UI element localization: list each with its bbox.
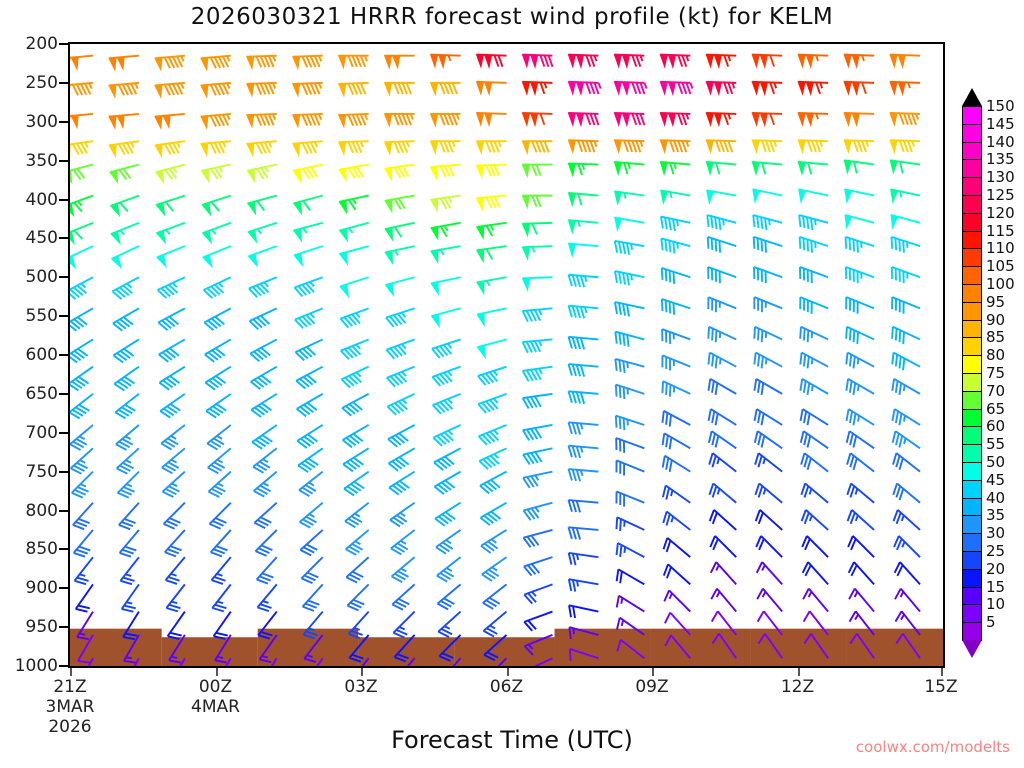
wind-barb: [389, 472, 414, 495]
wind-barb: [664, 564, 690, 584]
y-tick-label: 700: [26, 423, 58, 443]
y-tick-mark: [59, 665, 68, 667]
wind-barb: [755, 483, 782, 502]
y-tick-mark: [59, 237, 68, 239]
wind-barb: [109, 114, 139, 128]
wind-barb: [525, 658, 552, 666]
wind-barb: [294, 196, 323, 214]
wind-barb: [298, 448, 323, 472]
wind-barb: [848, 536, 874, 557]
wind-barb: [385, 246, 414, 263]
wind-barb: [347, 584, 368, 610]
wind-barb: [431, 246, 461, 262]
wind-barb: [209, 472, 231, 497]
y-tick-mark: [59, 510, 68, 512]
colorbar-swatch: [962, 124, 982, 143]
wind-barb: [247, 165, 276, 182]
wind-barb: [663, 486, 690, 503]
wind-barb: [846, 237, 875, 253]
colorbar-swatch: [962, 426, 982, 445]
wind-barb: [569, 244, 599, 256]
wind-barb: [300, 503, 323, 528]
wind-barb: [708, 327, 736, 342]
wind-barb: [756, 536, 782, 557]
wind-barb: [569, 579, 599, 591]
wind-barb: [752, 55, 782, 68]
wind-barb: [431, 55, 461, 68]
wind-barb: [346, 530, 369, 555]
wind-barb: [202, 196, 231, 215]
wind-barb: [257, 557, 277, 583]
y-tick-mark: [59, 393, 68, 395]
wind-barb: [203, 246, 231, 267]
y-tick-label: 400: [26, 190, 58, 210]
wind-barb: [251, 394, 276, 417]
wind-barb: [663, 456, 691, 472]
wind-barb: [524, 557, 553, 576]
wind-barb: [477, 113, 507, 126]
wind-barb: [844, 113, 874, 126]
wind-barb: [709, 409, 737, 425]
wind-barb: [846, 327, 874, 344]
wind-barb: [660, 140, 690, 152]
wind-barb: [753, 215, 782, 230]
wind-barb: [847, 453, 874, 471]
wind-barb: [800, 379, 828, 395]
wind-barb: [214, 612, 231, 639]
wind-barb: [349, 635, 368, 662]
wind-barb: [801, 453, 828, 471]
wind-barb: [846, 297, 874, 314]
wind-barb: [435, 472, 461, 494]
wind-barb: [296, 367, 322, 389]
wind-barb: [117, 448, 139, 473]
colorbar-tick-label: 40: [986, 489, 1005, 507]
wind-barb: [249, 246, 277, 266]
wind-barb: [662, 329, 690, 344]
wind-barb: [569, 193, 599, 205]
wind-barb: [431, 165, 461, 179]
x-tick-mark: [70, 668, 72, 676]
wind-barb: [156, 196, 185, 215]
wind-barb: [660, 113, 690, 126]
wind-barb: [295, 277, 323, 296]
wind-barb: [755, 431, 782, 448]
y-tick-mark: [59, 587, 68, 589]
wind-barb: [301, 557, 322, 583]
y-tick-mark: [59, 199, 68, 201]
y-tick-label: 900: [26, 578, 58, 598]
wind-barb: [709, 453, 736, 471]
wind-barb: [710, 536, 736, 557]
wind-barb: [756, 510, 782, 530]
wind-barb: [70, 339, 93, 362]
wind-barb: [845, 189, 874, 202]
y-tick-mark: [59, 43, 68, 45]
wind-barb: [339, 83, 369, 96]
wind-barb: [754, 327, 782, 342]
wind-barb: [522, 141, 552, 153]
wind-barb: [477, 141, 507, 153]
colorbar-tick-label: 120: [986, 204, 1015, 222]
wind-barb: [523, 530, 552, 547]
colorbar-swatch: [962, 409, 982, 428]
wind-barb: [752, 113, 782, 126]
wind-barb: [800, 327, 828, 342]
wind-barb: [846, 379, 874, 395]
wind-barb: [339, 114, 369, 127]
wind-barb: [615, 218, 645, 231]
wind-barb: [339, 196, 368, 213]
x-tick-label: 09Z: [635, 677, 668, 697]
colorbar-tick-label: 20: [986, 560, 1005, 578]
wind-barb: [482, 557, 507, 581]
colorbar-tick-label: 115: [986, 222, 1015, 240]
wind-barb: [800, 237, 829, 253]
wind-barb: [251, 367, 277, 389]
wind-barb: [295, 308, 323, 328]
wind-barb: [661, 238, 690, 253]
wind-barb: [660, 55, 690, 68]
colorbar-swatch: [962, 320, 982, 339]
wind-barb: [392, 557, 415, 582]
wind-barb: [201, 83, 231, 97]
y-tick-label: 300: [26, 112, 58, 132]
wind-barb: [847, 483, 874, 502]
wind-barb: [436, 530, 461, 554]
wind-barb: [168, 612, 185, 639]
colorbar-swatch: [962, 569, 982, 588]
wind-barb: [522, 196, 552, 208]
wind-barb: [433, 425, 460, 446]
wind-barb: [662, 268, 691, 284]
wind-barb: [616, 416, 645, 431]
wind-barb: [569, 527, 599, 539]
wind-barb: [247, 83, 277, 96]
wind-barb: [250, 339, 276, 361]
wind-barb: [893, 483, 920, 502]
y-tick-mark: [59, 121, 68, 123]
wind-barb: [438, 612, 460, 637]
wind-barb: [484, 612, 507, 637]
wind-barb: [440, 658, 460, 666]
wind-barb: [254, 503, 276, 528]
wind-barb: [523, 308, 553, 321]
wind-barb: [204, 308, 230, 330]
wind-barb: [112, 277, 138, 299]
wind-barb: [754, 237, 783, 253]
colorbar-swatch: [962, 177, 982, 196]
wind-barb: [890, 160, 920, 173]
wind-barb: [73, 503, 93, 529]
wind-barb: [891, 215, 920, 228]
wind-barb: [894, 536, 920, 557]
wind-barb: [201, 141, 231, 155]
wind-barb: [339, 165, 369, 181]
wind-barb: [848, 510, 874, 530]
colorbar-swatch: [962, 195, 982, 214]
wind-barb: [344, 472, 369, 496]
wind-barb: [708, 237, 737, 253]
wind-barb: [70, 196, 93, 216]
colorbar-swatch: [962, 231, 982, 250]
wind-barb: [157, 223, 185, 243]
wind-barb: [615, 302, 644, 316]
wind-barb: [614, 55, 644, 68]
wind-barb: [850, 611, 875, 635]
wind-barb: [248, 223, 277, 242]
wind-barb: [569, 337, 599, 350]
wind-barb: [568, 113, 598, 126]
wind-barb: [109, 56, 139, 70]
wind-barb: [293, 56, 323, 69]
colorbar-swatch: [962, 355, 982, 374]
wind-barb: [758, 611, 783, 635]
wind-barb: [393, 612, 414, 638]
wind-barb: [706, 113, 736, 126]
wind-barb: [708, 297, 736, 312]
wind-barb: [662, 355, 690, 370]
wind-barb: [846, 267, 874, 283]
wind-barb: [481, 530, 506, 553]
wind-barb: [70, 56, 93, 70]
wind-barb: [432, 308, 461, 326]
wind-barb: [711, 562, 736, 584]
wind-barb: [892, 379, 920, 395]
wind-barb: [757, 562, 782, 584]
wind-barb: [299, 472, 323, 497]
wind-barb: [297, 425, 322, 448]
wind-barb: [75, 557, 93, 584]
wind-barb: [798, 113, 828, 126]
x-tick-mark: [507, 668, 509, 676]
wind-barb: [206, 394, 231, 418]
wind-barb: [804, 634, 828, 659]
wind-barb: [70, 277, 93, 299]
x-tick-label: 00Z4MAR: [191, 677, 240, 717]
wind-barb: [524, 584, 552, 603]
wind-barb: [253, 448, 277, 473]
wind-barb: [523, 503, 552, 520]
wind-barb: [892, 267, 920, 283]
wind-barb: [392, 584, 414, 609]
wind-barb: [569, 469, 599, 481]
wind-barb: [525, 635, 553, 655]
wind-barb: [342, 394, 368, 416]
colorbar-tick-label: 80: [986, 346, 1005, 364]
colorbar-under-cap: [962, 640, 982, 658]
wind-barb: [118, 472, 139, 498]
wind-barb: [798, 55, 828, 68]
colorbar-tick-label: 45: [986, 471, 1005, 489]
wind-barb: [847, 431, 874, 448]
wind-barb: [844, 82, 874, 95]
wind-barb: [803, 562, 828, 584]
wind-barb: [70, 394, 93, 419]
wind-barb: [614, 140, 644, 152]
wind-barb: [391, 530, 415, 555]
wind-barb: [523, 367, 553, 382]
wind-barb: [110, 165, 139, 183]
wind-barb: [205, 339, 231, 361]
wind-barb: [849, 562, 874, 584]
y-tick-mark: [59, 548, 68, 550]
wind-barb: [115, 394, 139, 419]
wind-barb: [481, 503, 507, 525]
colorbar-swatch: [962, 444, 982, 463]
wind-barb: [844, 55, 874, 68]
wind-barb: [349, 612, 369, 638]
wind-barb: [212, 557, 231, 584]
wind-barb: [201, 56, 231, 70]
colorbar-swatch: [962, 551, 982, 570]
wind-barb: [665, 613, 690, 635]
wind-barb: [896, 634, 920, 659]
wind-barb: [800, 297, 828, 314]
wind-barb: [801, 483, 828, 502]
wind-barb: [569, 553, 599, 565]
wind-barb: [569, 500, 599, 512]
wind-barb: [70, 367, 93, 391]
wind-barb: [431, 196, 461, 211]
wind-barb: [569, 605, 598, 618]
colorbar-tick-label: 125: [986, 186, 1015, 204]
wind-barb: [757, 589, 782, 612]
wind-barb: [484, 635, 506, 660]
wind-barb: [892, 409, 920, 425]
y-tick-label: 1000: [15, 656, 58, 676]
wind-barb: [385, 56, 415, 68]
colorbar-tick-label: 65: [986, 400, 1005, 418]
wind-barb: [113, 339, 138, 362]
wind-barb: [758, 634, 782, 659]
wind-barb: [522, 55, 552, 68]
wind-barb: [431, 83, 461, 95]
wind-barb: [339, 141, 369, 154]
wind-barb: [113, 308, 139, 330]
wind-barb: [479, 425, 507, 445]
wind-barb: [754, 267, 782, 283]
wind-barb: [804, 611, 829, 635]
wind-barb: [341, 339, 369, 359]
wind-barb: [207, 425, 231, 450]
wind-barb: [523, 425, 553, 440]
y-tick-mark: [59, 160, 68, 162]
colorbar-swatch: [962, 498, 982, 517]
colorbar-tick-label: 130: [986, 168, 1015, 186]
wind-barb: [343, 448, 368, 471]
colorbar-swatch: [962, 248, 982, 267]
colorbar-swatch: [962, 373, 982, 392]
x-tick-label: 06Z: [490, 677, 523, 697]
wind-barb: [478, 394, 506, 413]
wind-barb: [70, 425, 93, 450]
wind-barb: [434, 448, 460, 470]
wind-barb: [478, 367, 507, 386]
wind-barb: [386, 308, 415, 327]
y-tick-mark: [59, 354, 68, 356]
colorbar-tick-label: 105: [986, 257, 1015, 275]
colorbar-tick-label: 5: [986, 613, 996, 631]
wind-barb: [568, 163, 598, 175]
y-tick-label: 250: [26, 73, 58, 93]
wind-barb: [570, 649, 599, 661]
wind-barb: [752, 162, 782, 174]
wind-barb: [802, 510, 828, 530]
wind-barb: [483, 584, 507, 609]
wind-barb: [710, 510, 736, 530]
wind-barb: [249, 277, 277, 297]
colorbar-tick-label: 55: [986, 435, 1005, 453]
wind-barb: [297, 394, 323, 416]
wind-barb: [303, 584, 323, 610]
wind-barb: [293, 114, 323, 127]
colorbar-swatch: [962, 533, 982, 552]
wind-barb: [662, 411, 690, 427]
y-tick-label: 550: [26, 306, 58, 326]
colorbar-tick-label: 110: [986, 239, 1015, 257]
wind-barb: [850, 634, 874, 659]
wind-barb: [711, 589, 736, 612]
wind-barb: [617, 596, 645, 612]
wind-barb: [70, 114, 93, 128]
colorbar-swatch: [962, 266, 982, 285]
wind-barb: [709, 483, 736, 502]
wind-barb: [890, 113, 920, 125]
wind-barb: [439, 635, 460, 661]
colorbar-tick-label: 145: [986, 115, 1015, 133]
y-tick-label: 600: [26, 345, 58, 365]
wind-barb: [120, 530, 139, 557]
wind-barb: [437, 557, 461, 582]
wind-barb: [203, 223, 231, 243]
y-tick-label: 500: [26, 267, 58, 287]
wind-barb: [208, 448, 231, 473]
y-axis: 2002503003504004505005506006507007508008…: [0, 42, 68, 668]
wind-barb: [300, 530, 322, 555]
wind-barb: [707, 190, 737, 203]
wind-barb: [477, 277, 507, 293]
wind-barb: [844, 160, 874, 173]
x-tick-label: 03Z: [344, 677, 377, 697]
wind-barb: [849, 589, 874, 612]
wind-barb: [709, 379, 737, 395]
wind-barb: [614, 162, 644, 174]
wind-barb: [660, 162, 690, 174]
wind-barb: [615, 271, 644, 285]
wind-barb: [892, 353, 920, 371]
wind-barb: [706, 140, 736, 152]
wind-barb: [72, 472, 93, 498]
colorbar-swatch: [962, 302, 982, 321]
wind-barb: [891, 237, 920, 253]
wind-barb: [114, 367, 139, 391]
wind-barb: [70, 246, 93, 268]
wind-barb: [707, 215, 736, 230]
wind-barb: [845, 215, 874, 228]
wind-barb: [111, 223, 139, 244]
colorbar-tick-label: 50: [986, 453, 1005, 471]
y-tick-label: 850: [26, 539, 58, 559]
wind-barb: [752, 82, 782, 95]
wind-barb: [340, 246, 369, 264]
wind-barb: [293, 141, 323, 155]
colorbar-swatch: [962, 622, 982, 641]
wind-barb: [387, 367, 415, 387]
wind-barb: [755, 409, 783, 425]
wind-barb: [385, 83, 415, 95]
wind-barb: [438, 584, 461, 609]
